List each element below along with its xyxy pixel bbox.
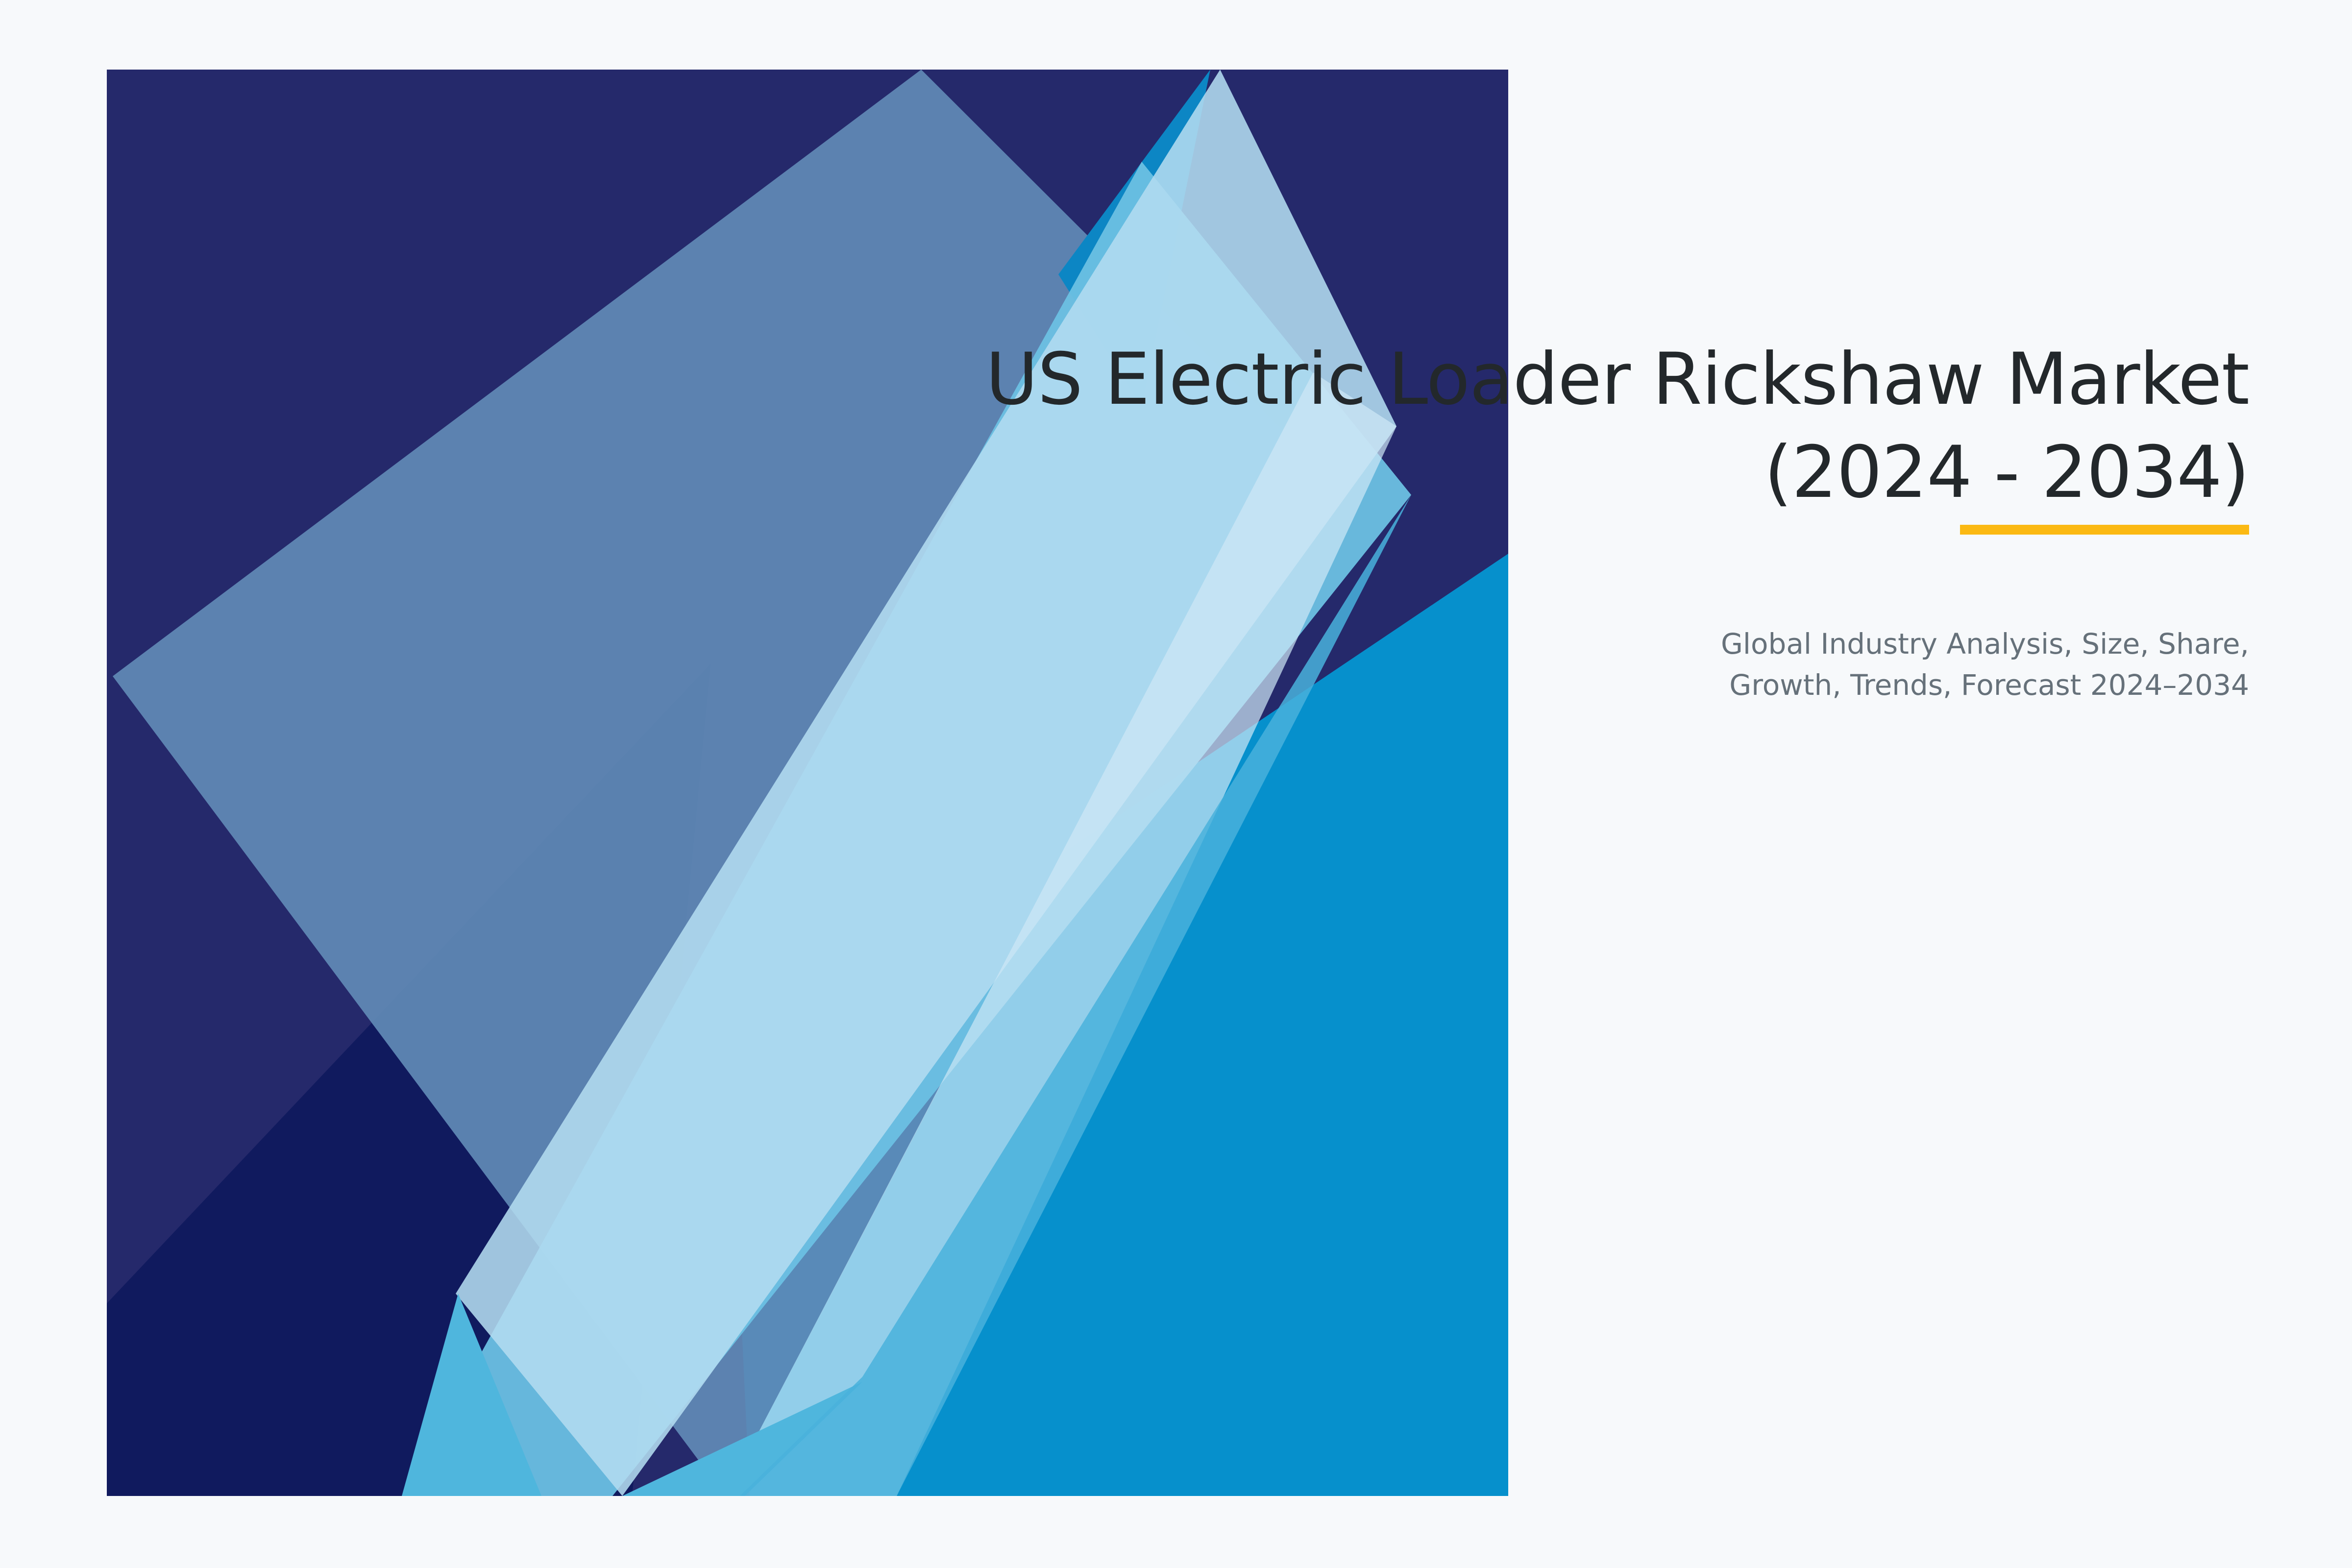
- page-title: US Electric Loader Rickshaw Market (2024…: [735, 333, 2249, 519]
- title-highlight-underline: [1960, 525, 2249, 535]
- cover-text-block: US Electric Loader Rickshaw Market (2024…: [735, 333, 2249, 706]
- page-subtitle: Global Industry Analysis, Size, Share, G…: [735, 519, 2249, 706]
- cover-artwork: [0, 0, 2352, 1568]
- report-cover: US Electric Loader Rickshaw Market (2024…: [0, 0, 2352, 1568]
- title-block: US Electric Loader Rickshaw Market (2024…: [735, 333, 2249, 519]
